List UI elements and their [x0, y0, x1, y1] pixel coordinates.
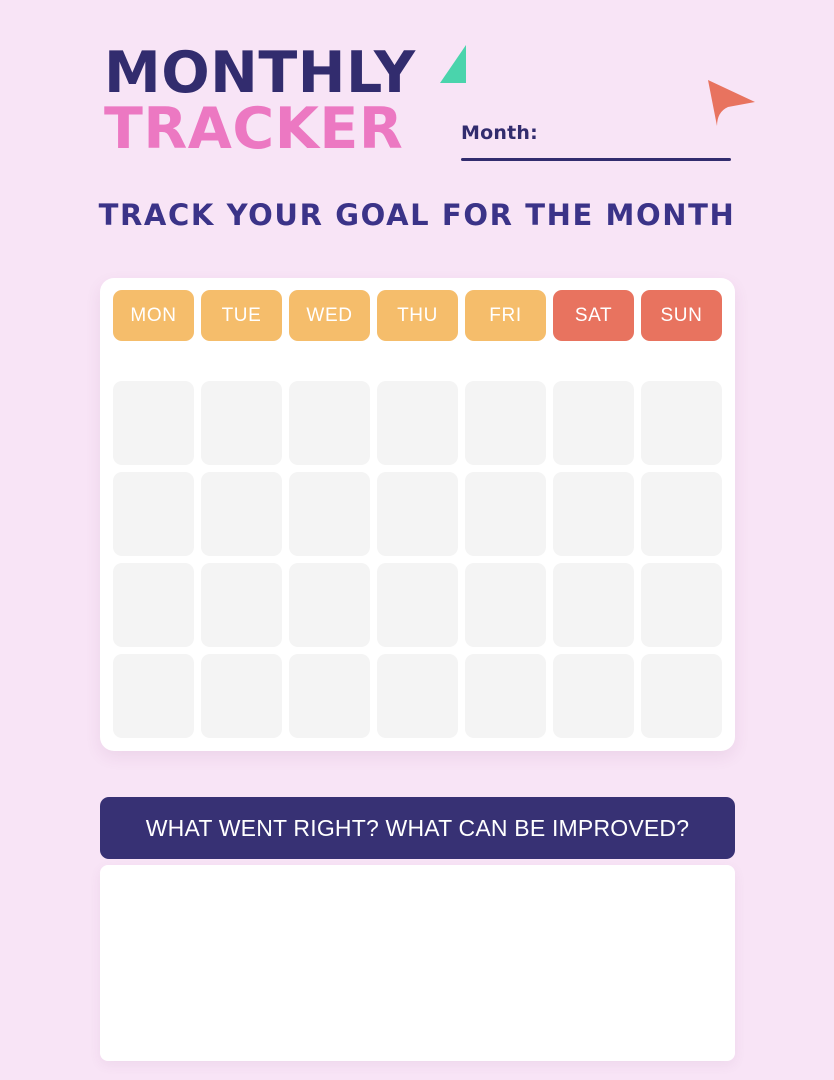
day-header-sun: SUN: [641, 290, 722, 341]
calendar-cell[interactable]: [465, 381, 546, 465]
calendar-cell[interactable]: [641, 381, 722, 465]
day-header-fri: FRI: [465, 290, 546, 341]
page-subtitle: TRACK YOUR GOAL FOR THE MONTH: [0, 198, 834, 232]
reflection-banner: WHAT WENT RIGHT? WHAT CAN BE IMPROVED?: [100, 797, 735, 859]
calendar-cell[interactable]: [201, 654, 282, 738]
calendar-cell[interactable]: [289, 654, 370, 738]
calendar-cell[interactable]: [201, 563, 282, 647]
title-line-tracker: TRACKER: [104, 102, 484, 158]
page-title: MONTHLY TRACKER: [104, 46, 484, 158]
calendar-cell[interactable]: [289, 563, 370, 647]
day-header-mon: MON: [113, 290, 194, 341]
monthly-tracker-page: MONTHLY TRACKER Month: TRACK YOUR GOAL F…: [0, 0, 834, 1080]
calendar-cell[interactable]: [377, 472, 458, 556]
month-field[interactable]: Month:: [461, 122, 731, 161]
triangle-teal-icon: [440, 45, 466, 83]
title-line-monthly: MONTHLY: [104, 46, 484, 102]
calendar-cell[interactable]: [553, 563, 634, 647]
calendar-cell[interactable]: [641, 563, 722, 647]
calendar-cell[interactable]: [201, 381, 282, 465]
calendar-cell[interactable]: [553, 472, 634, 556]
calendar-cell[interactable]: [641, 654, 722, 738]
calendar-grid: MONTUEWEDTHUFRISATSUN: [113, 290, 722, 738]
month-label: Month:: [461, 122, 731, 144]
calendar-card: MONTUEWEDTHUFRISATSUN: [100, 278, 735, 751]
calendar-cell[interactable]: [553, 654, 634, 738]
reflection-notes-box[interactable]: [100, 865, 735, 1061]
calendar-cell[interactable]: [641, 472, 722, 556]
day-header-wed: WED: [289, 290, 370, 341]
calendar-cell[interactable]: [553, 381, 634, 465]
calendar-cell[interactable]: [113, 472, 194, 556]
day-header-tue: TUE: [201, 290, 282, 341]
calendar-cell[interactable]: [377, 381, 458, 465]
calendar-cell[interactable]: [113, 563, 194, 647]
calendar-cell[interactable]: [465, 563, 546, 647]
calendar-cell[interactable]: [465, 654, 546, 738]
calendar-cell[interactable]: [289, 381, 370, 465]
day-header-thu: THU: [377, 290, 458, 341]
calendar-cell[interactable]: [289, 472, 370, 556]
calendar-cell[interactable]: [377, 563, 458, 647]
calendar-cell[interactable]: [377, 654, 458, 738]
calendar-cell[interactable]: [113, 381, 194, 465]
month-input-rule[interactable]: [461, 158, 731, 161]
calendar-cell[interactable]: [201, 472, 282, 556]
calendar-cell[interactable]: [113, 654, 194, 738]
day-header-sat: SAT: [553, 290, 634, 341]
calendar-cell[interactable]: [465, 472, 546, 556]
